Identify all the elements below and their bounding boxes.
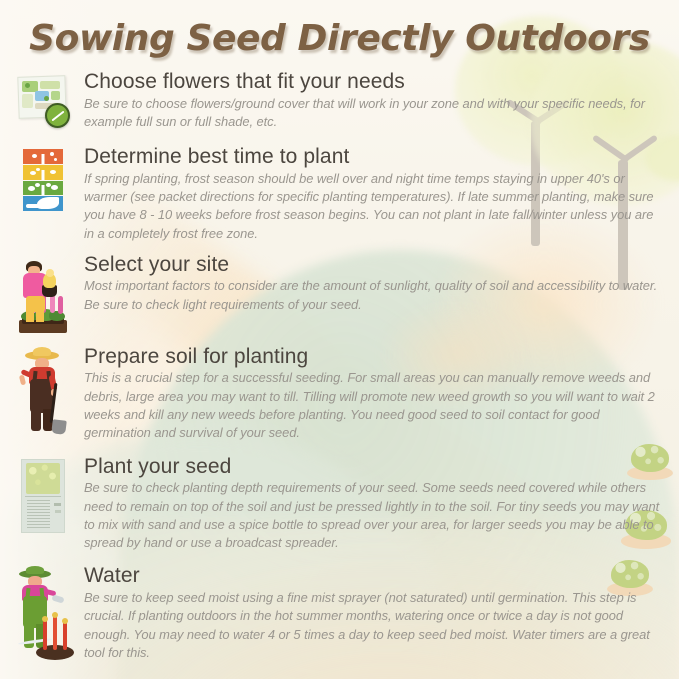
step-water: Water Be sure to keep seed moist using a… [0,564,679,662]
step-icon-cell [10,70,76,126]
step-plant-seed: Plant your seed Be sure to check plantin… [0,455,679,553]
step-icon-cell [10,564,76,660]
gardener-watering-plants-icon [12,568,74,660]
four-seasons-icon [23,149,63,211]
step-select-site: Select your site Most important factors … [0,253,679,333]
steps-list: Choose flowers that fit your needs Be su… [0,62,679,666]
step-text-cell: Select your site Most important factors … [76,253,665,314]
step-body: This is a crucial step for a successful … [84,369,661,442]
step-heading: Choose flowers that fit your needs [84,70,661,94]
step-body: If spring planting, frost season should … [84,170,661,243]
gardener-with-shovel-icon [19,349,67,435]
poster-title-wrap: Sowing Seed Directly Outdoors [0,18,679,59]
step-choose-flowers: Choose flowers that fit your needs Be su… [0,70,679,131]
step-prepare-soil: Prepare soil for planting This is a cruc… [0,345,679,443]
step-body: Most important factors to consider are t… [84,277,661,314]
step-body: Be sure to check planting depth requirem… [84,479,661,552]
step-icon-cell [10,253,76,333]
step-determine-time: Determine best time to plant If spring p… [0,145,679,243]
gardener-planting-flowerbed-icon [17,257,69,333]
garden-plan-compass-icon [16,74,70,126]
step-heading: Prepare soil for planting [84,345,661,369]
step-icon-cell [10,345,76,435]
step-body: Be sure to choose flowers/ground cover t… [84,95,661,132]
step-heading: Plant your seed [84,455,661,479]
step-text-cell: Determine best time to plant If spring p… [76,145,665,243]
step-heading: Select your site [84,253,661,277]
step-icon-cell [10,455,76,533]
step-text-cell: Plant your seed Be sure to check plantin… [76,455,665,553]
poster-title: Sowing Seed Directly Outdoors [29,18,650,59]
step-body: Be sure to keep seed moist using a fine … [84,589,661,662]
step-text-cell: Prepare soil for planting This is a cruc… [76,345,665,443]
seed-packet-icon [21,459,65,533]
step-heading: Determine best time to plant [84,145,661,169]
infographic-poster: Sowing Seed Directly Outdoors [0,0,679,679]
step-heading: Water [84,564,661,588]
step-icon-cell [10,145,76,211]
step-text-cell: Water Be sure to keep seed moist using a… [76,564,665,662]
step-text-cell: Choose flowers that fit your needs Be su… [76,70,665,131]
